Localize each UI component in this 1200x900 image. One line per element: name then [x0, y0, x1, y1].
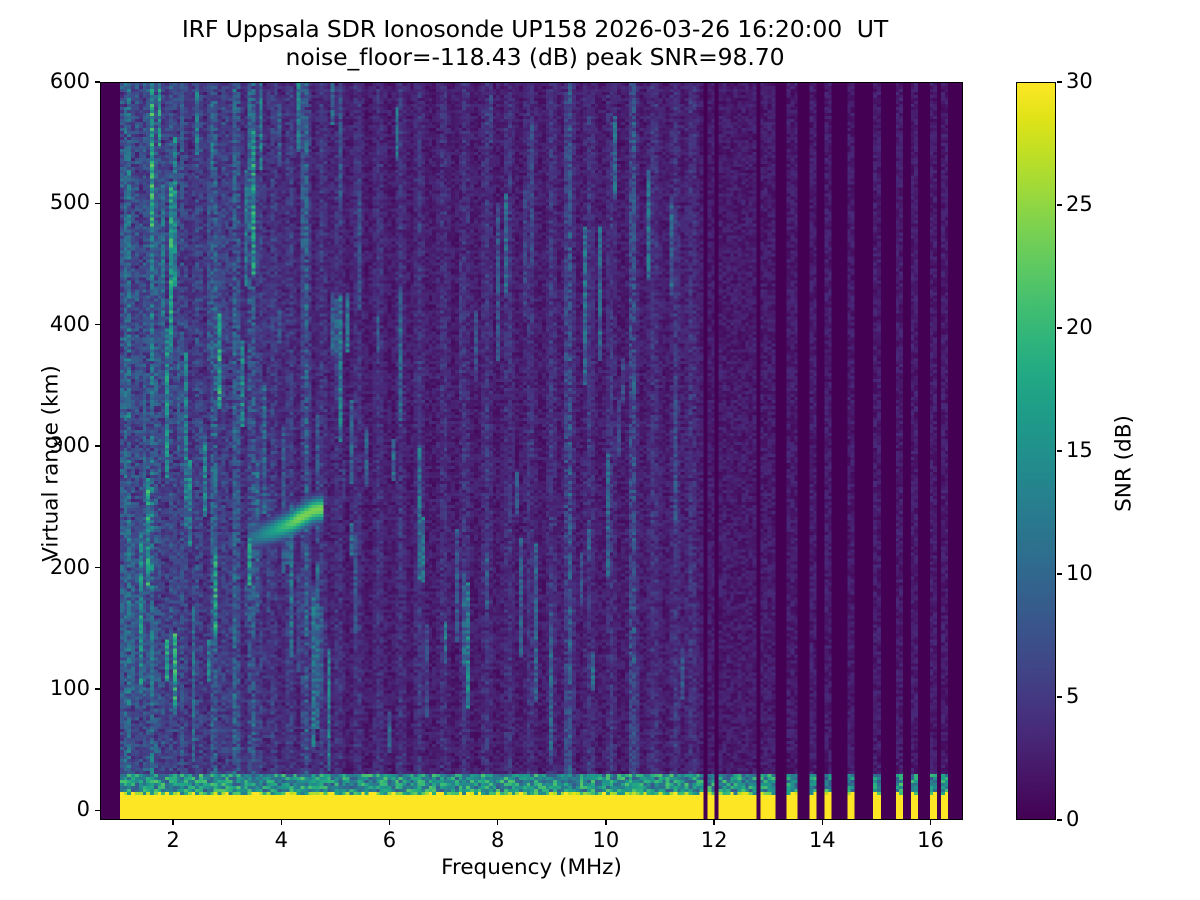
y-axis-label: Virtual range (km)	[39, 64, 64, 864]
colorbar-tick-mark	[1057, 204, 1062, 205]
colorbar-tick-label: 15	[1066, 438, 1093, 462]
y-tick-mark	[95, 324, 100, 325]
ionogram-plot-area[interactable]	[100, 82, 963, 820]
x-tick-mark	[281, 820, 282, 825]
y-tick-mark	[95, 688, 100, 689]
colorbar-tick-label: 20	[1066, 315, 1093, 339]
x-tick-mark	[822, 820, 823, 825]
colorbar-tick-label: 0	[1066, 807, 1079, 831]
colorbar-tick-label: 5	[1066, 684, 1079, 708]
x-tick-label: 4	[251, 828, 311, 852]
x-axis-label: Frequency (MHz)	[100, 855, 963, 880]
title-line-2: noise_floor=-118.43 (dB) peak SNR=98.70	[0, 44, 1070, 72]
x-tick-mark	[605, 820, 606, 825]
colorbar-label: SNR (dB)	[1112, 164, 1137, 764]
x-tick-mark	[930, 820, 931, 825]
x-tick-mark	[172, 820, 173, 825]
y-tick-mark	[95, 81, 100, 82]
x-tick-label: 8	[468, 828, 528, 852]
colorbar-tick-mark	[1057, 819, 1062, 820]
y-tick-mark	[95, 567, 100, 568]
ionogram-figure: IRF Uppsala SDR Ionosonde UP158 2026-03-…	[0, 0, 1200, 900]
x-tick-label: 12	[684, 828, 744, 852]
y-tick-mark	[95, 203, 100, 204]
colorbar-tick-mark	[1057, 81, 1062, 82]
figure-title: IRF Uppsala SDR Ionosonde UP158 2026-03-…	[0, 16, 1070, 71]
colorbar-gradient	[1017, 83, 1055, 819]
title-line-1: IRF Uppsala SDR Ionosonde UP158 2026-03-…	[0, 16, 1070, 44]
x-tick-label: 16	[901, 828, 961, 852]
x-tick-mark	[713, 820, 714, 825]
x-tick-label: 10	[576, 828, 636, 852]
colorbar-tick-label: 30	[1066, 69, 1093, 93]
colorbar-tick-mark	[1057, 696, 1062, 697]
colorbar-tick-label: 25	[1066, 192, 1093, 216]
colorbar-tick-mark	[1057, 450, 1062, 451]
colorbar-tick-mark	[1057, 573, 1062, 574]
x-tick-mark	[389, 820, 390, 825]
y-tick-mark	[95, 445, 100, 446]
x-tick-label: 2	[143, 828, 203, 852]
colorbar[interactable]	[1016, 82, 1056, 820]
x-tick-label: 14	[792, 828, 852, 852]
x-tick-mark	[497, 820, 498, 825]
colorbar-tick-label: 10	[1066, 561, 1093, 585]
y-tick-mark	[95, 810, 100, 811]
colorbar-tick-mark	[1057, 327, 1062, 328]
ionogram-heatmap-canvas	[101, 83, 962, 819]
x-tick-label: 6	[359, 828, 419, 852]
